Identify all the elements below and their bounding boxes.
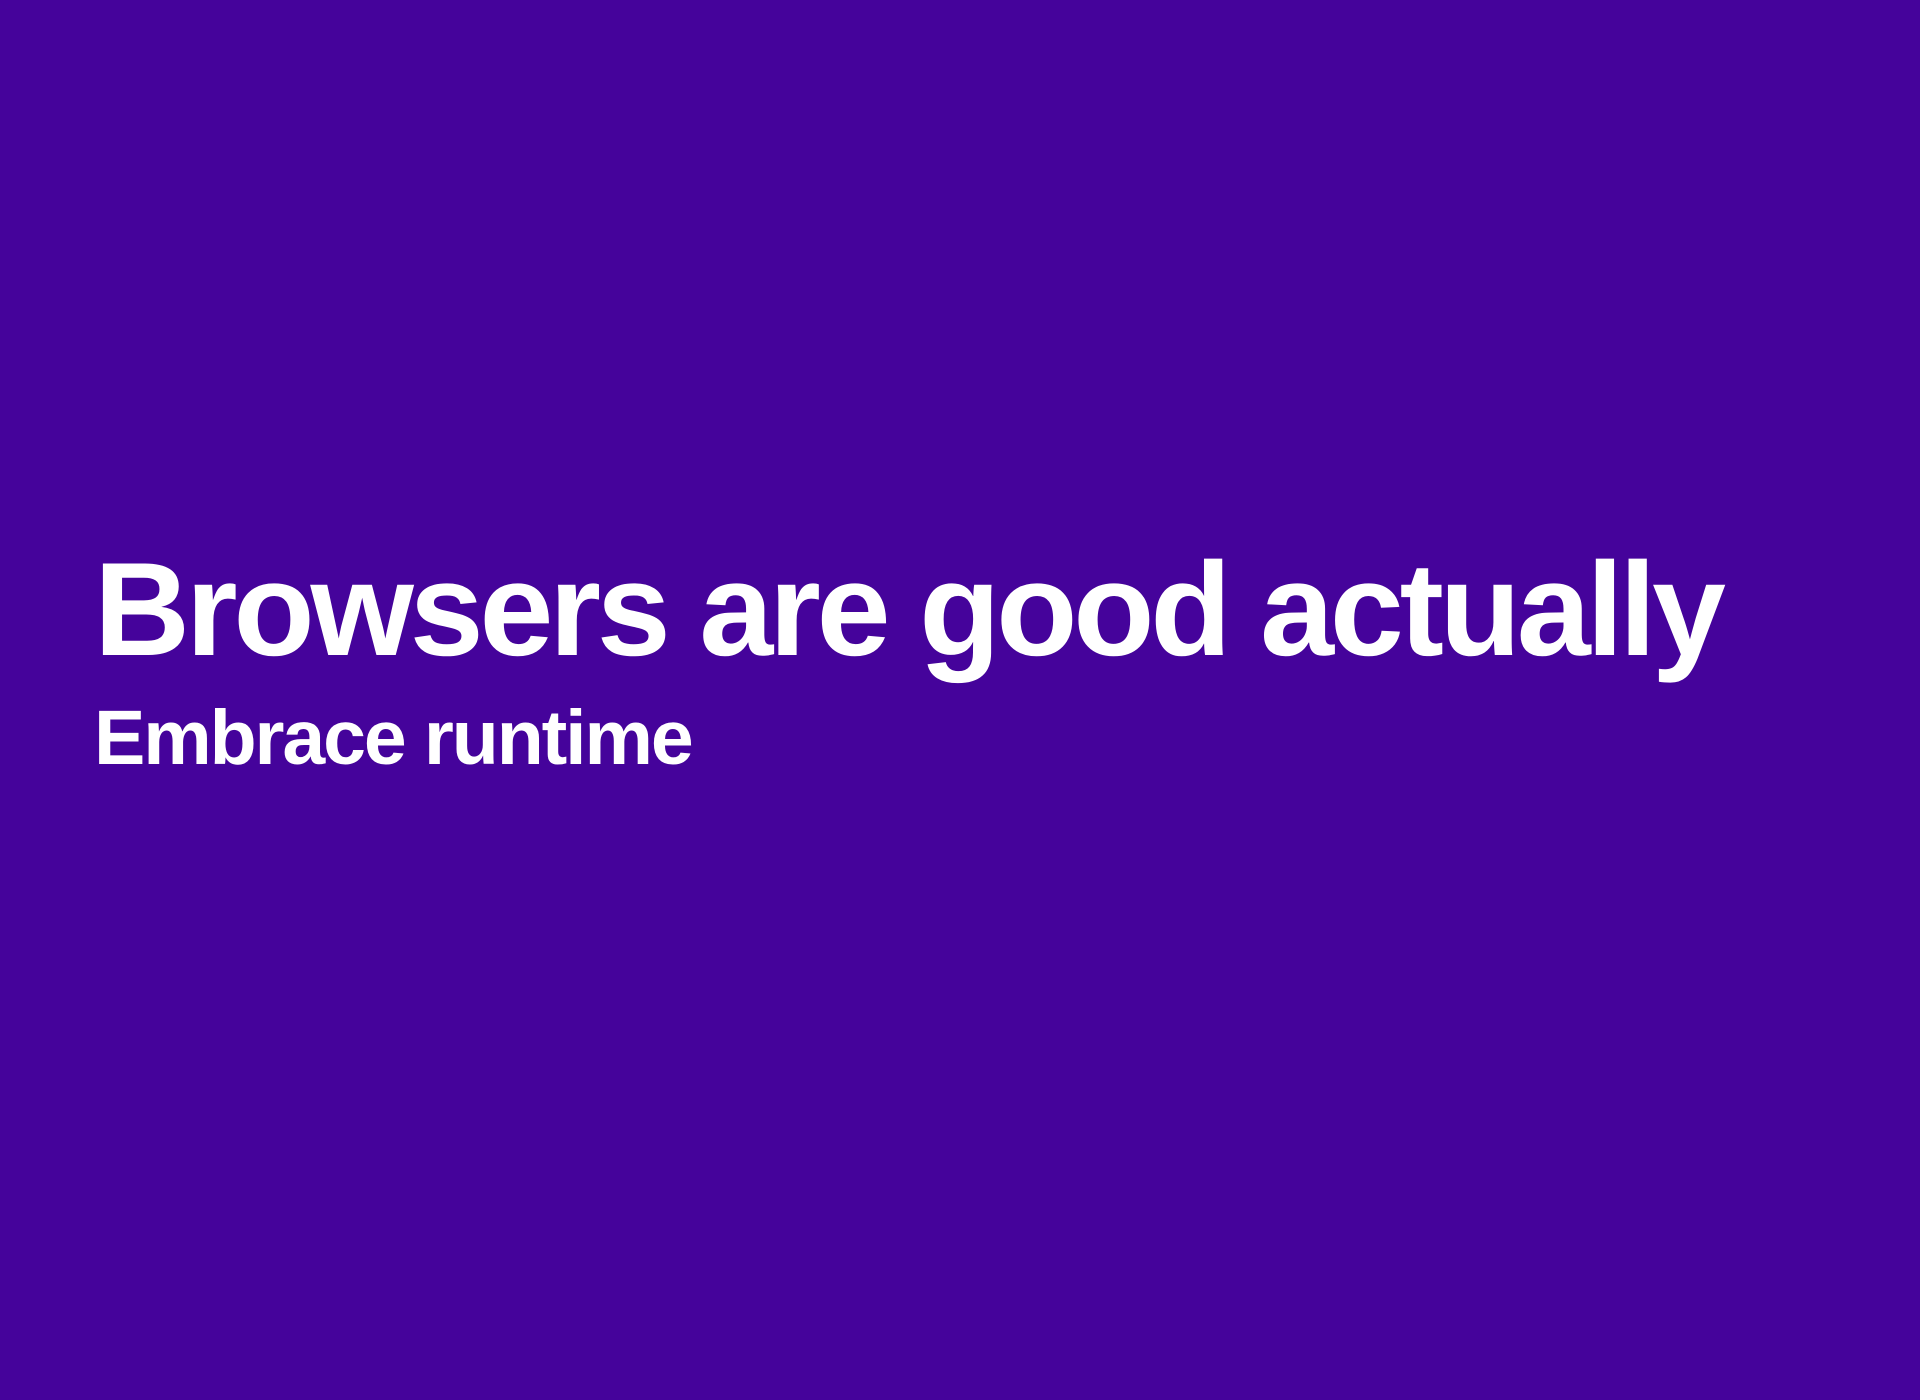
slide-text-block: Browsers are good actually Embrace runti… <box>94 540 1854 780</box>
presentation-slide: Browsers are good actually Embrace runti… <box>0 0 1920 1400</box>
page-title: Browsers are good actually <box>94 540 1854 681</box>
slide-subtitle: Embrace runtime <box>94 697 1854 780</box>
